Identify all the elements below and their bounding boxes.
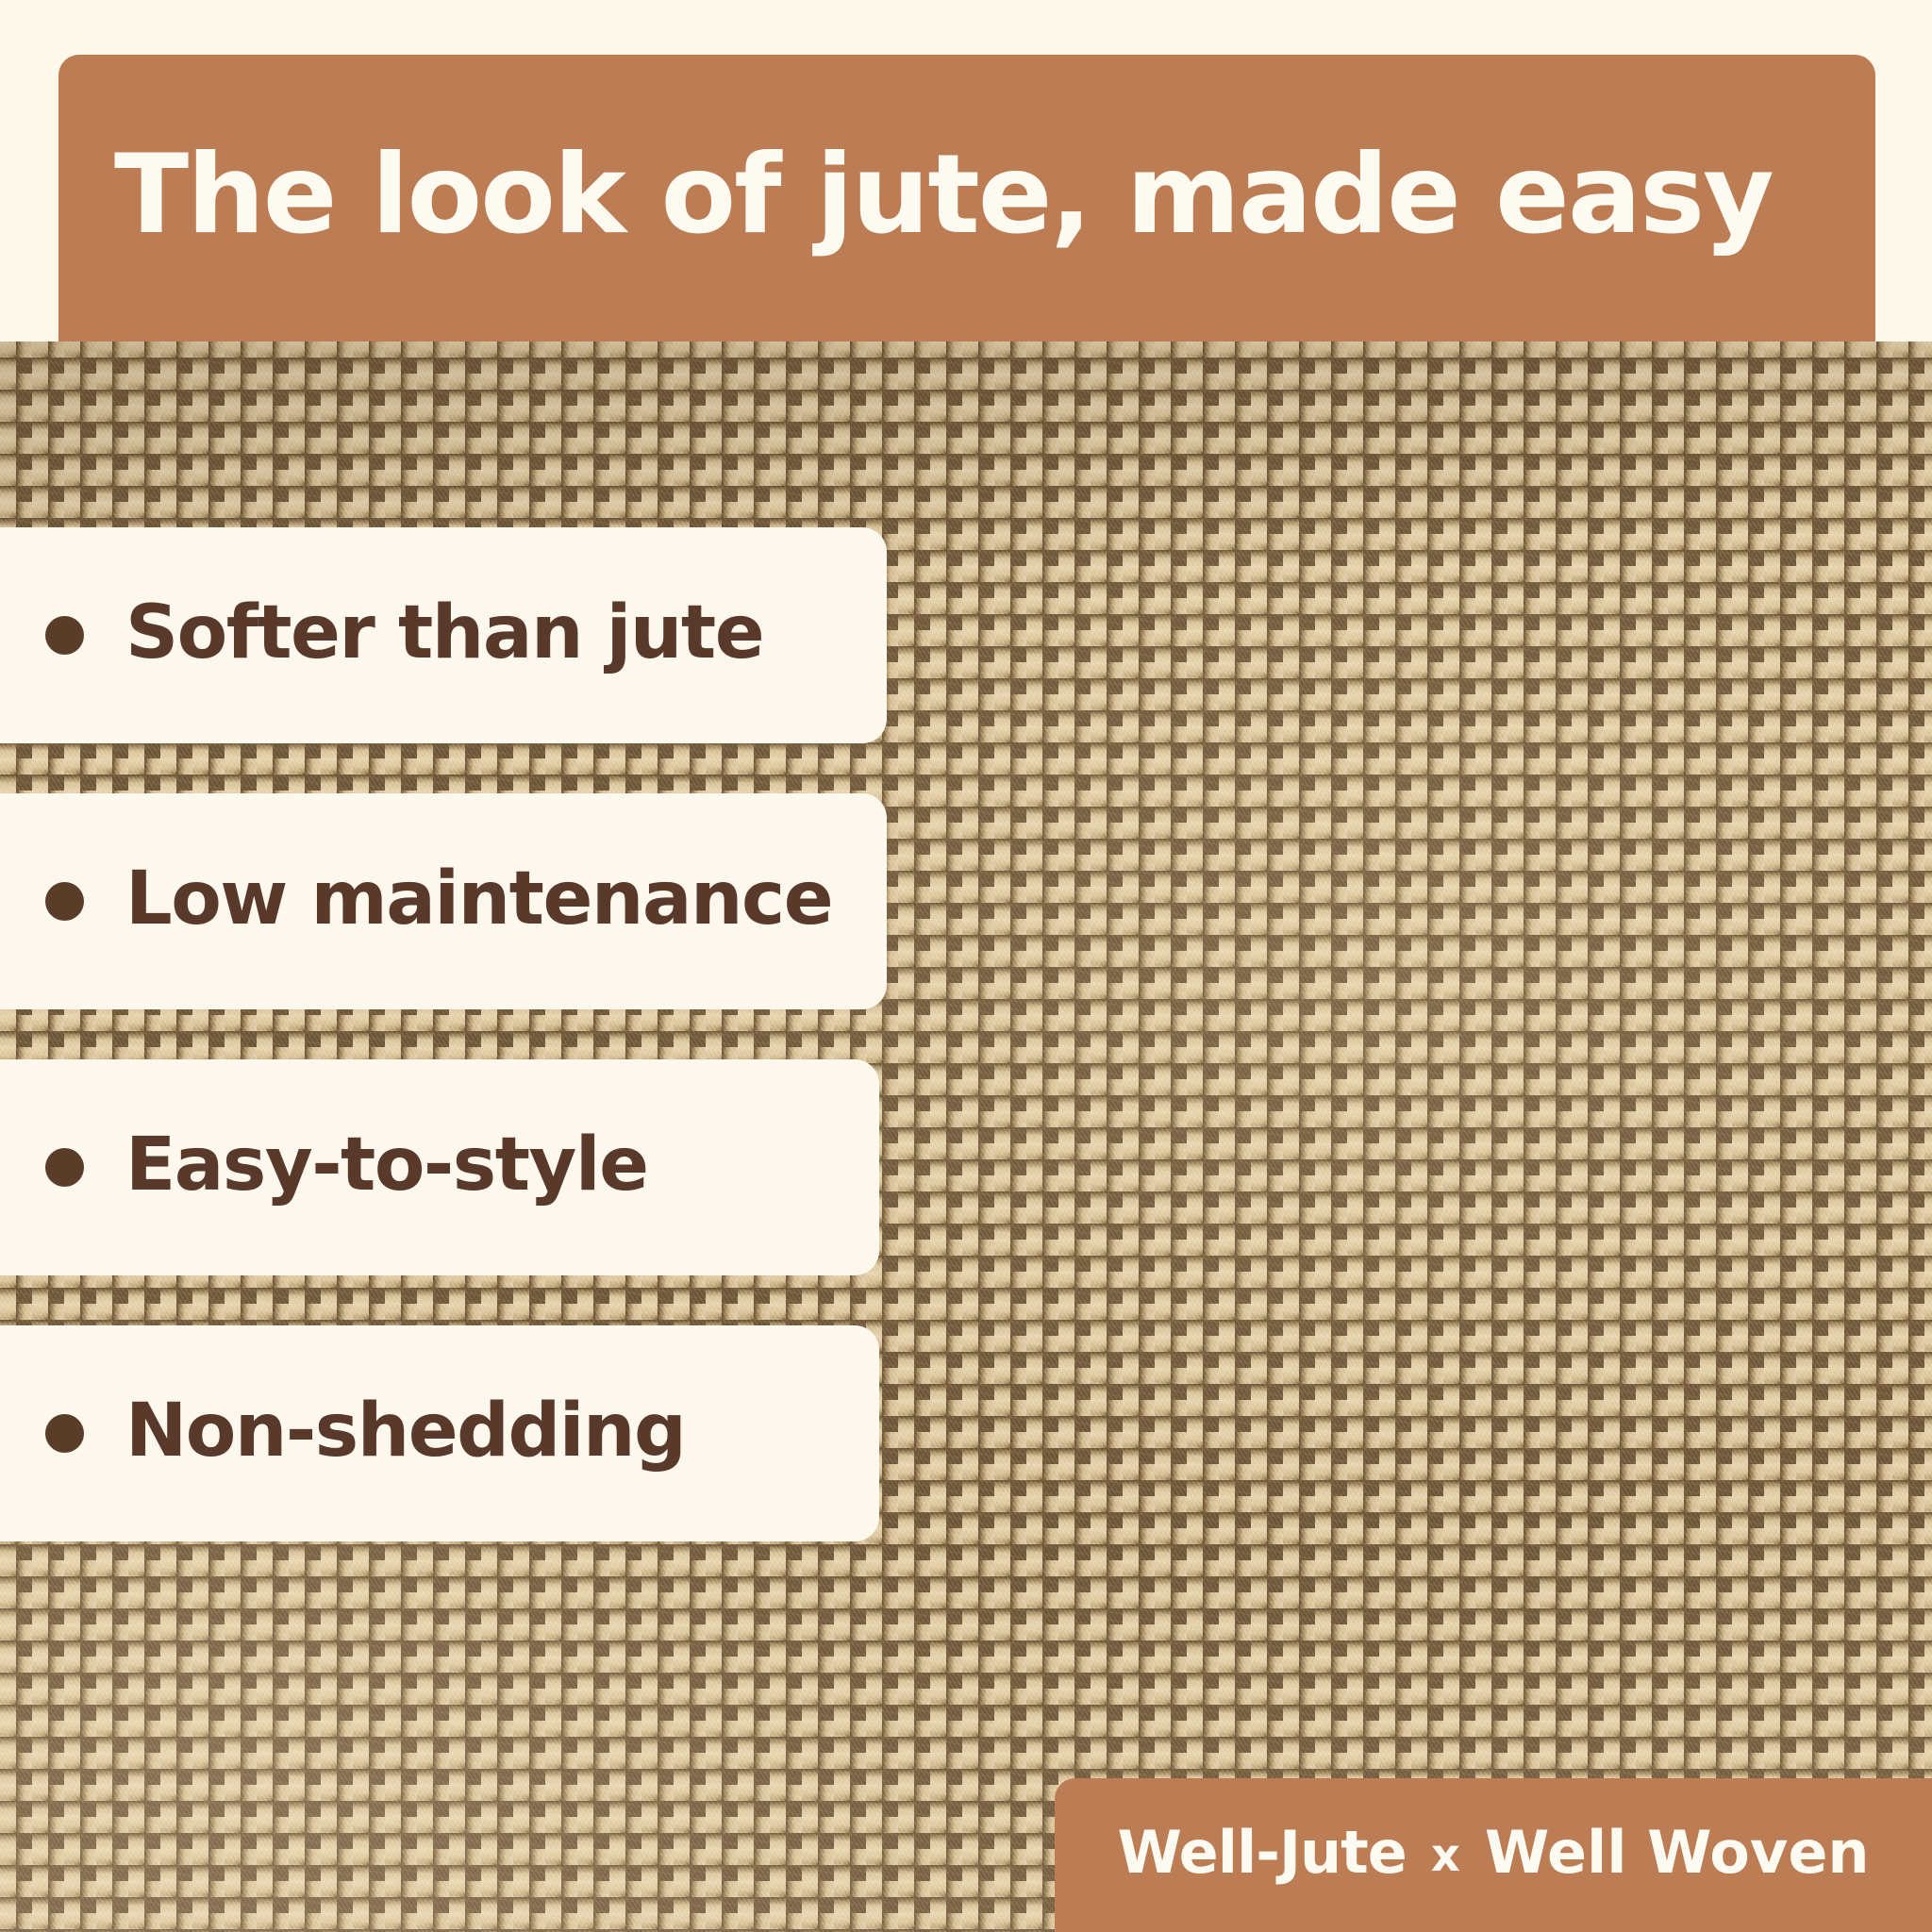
- feature-label: Non-shedding: [125, 1389, 685, 1474]
- bullet-dot-icon: [45, 616, 84, 655]
- feature-card-non-shedding: Non-shedding: [0, 1325, 879, 1541]
- bullet-dot-icon: [45, 1414, 84, 1453]
- brand-separator: x: [1431, 1829, 1460, 1882]
- feature-label: Easy-to-style: [125, 1123, 648, 1207]
- page-title: The look of jute, made easy: [114, 141, 1773, 250]
- brand-name-secondary: Well Woven: [1485, 1818, 1870, 1887]
- promo-poster: The look of jute, made easy Softer than …: [0, 0, 1932, 1932]
- feature-label: Softer than jute: [125, 591, 763, 675]
- feature-label: Low maintenance: [125, 857, 832, 941]
- feature-card-low-maintenance: Low maintenance: [0, 793, 887, 1009]
- bullet-dot-icon: [45, 882, 84, 921]
- brand-badge: Well-Jute x Well Woven: [1055, 1778, 1932, 1932]
- bullet-dot-icon: [45, 1148, 84, 1187]
- feature-list: Softer than jute Low maintenance Easy-to…: [0, 527, 887, 1541]
- feature-card-softer-than-jute: Softer than jute: [0, 527, 887, 743]
- feature-card-easy-to-style: Easy-to-style: [0, 1059, 879, 1275]
- brand-name-primary: Well-Jute: [1117, 1818, 1406, 1887]
- header-banner: The look of jute, made easy: [58, 55, 1875, 341]
